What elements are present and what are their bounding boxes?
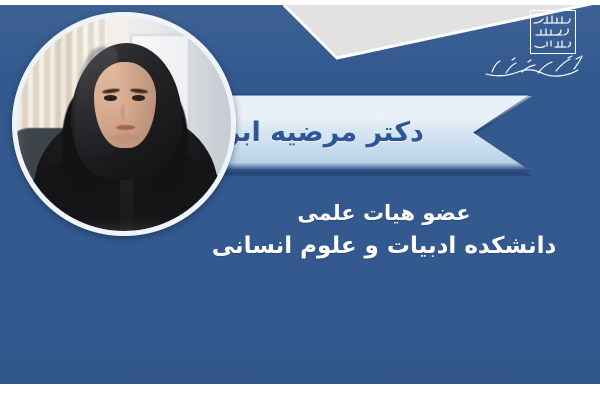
photo-chin (111, 133, 139, 144)
photo-eye-left (104, 95, 117, 101)
logo-line-shahid (534, 27, 572, 37)
university-logo (470, 4, 594, 82)
logo-line-daneshgah (534, 15, 572, 25)
logo-script-public-relations (482, 50, 590, 80)
faculty-role-line2: دانشکده ادبیات و علوم انسانی (176, 230, 592, 263)
logo-line-beheshti (534, 39, 572, 49)
bottom-trim-strip (0, 384, 600, 400)
photo-eye-right (132, 95, 145, 101)
faculty-profile-card: دکتر مرضیه ابراهیمی (0, 0, 600, 400)
logo-square-frame (530, 10, 576, 54)
faculty-role-block: عضو هیات علمی دانشکده ادبیات و علوم انسا… (176, 198, 592, 264)
photo-nose (121, 103, 128, 120)
logo-calligraphy-lines (534, 15, 572, 49)
faculty-role-line1: عضو هیات علمی (176, 198, 592, 228)
